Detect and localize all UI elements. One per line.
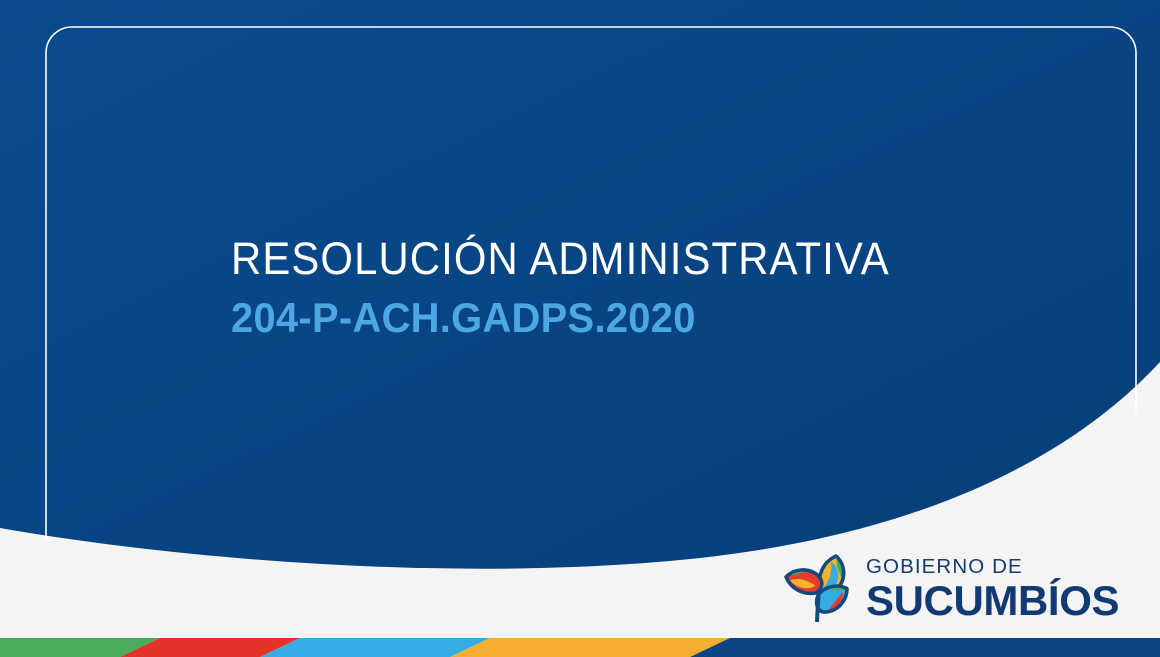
gobierno-sucumbios-logo: GOBIERNO DE SUCUMBÍOS [779,549,1119,629]
page-title: RESOLUCIÓN ADMINISTRATIVA [231,231,938,287]
three-leaf-emblem-icon [779,549,853,629]
page-subtitle: 204-P-ACH.GADPS.2020 [231,292,953,344]
bottom-color-bar [0,638,1160,657]
logo-line-gobierno: GOBIERNO DE [866,556,1119,578]
color-bar-segment-cyan [260,638,490,657]
color-bar-segment-navy [690,638,1160,657]
color-bar-segment-orange [450,638,730,657]
title-block: RESOLUCIÓN ADMINISTRATIVA 204-P-ACH.GADP… [231,231,991,344]
logo-line-sucumbios: SUCUMBÍOS [866,579,1119,622]
logo-wordmark: GOBIERNO DE SUCUMBÍOS [866,556,1119,622]
slide-canvas: RESOLUCIÓN ADMINISTRATIVA 204-P-ACH.GADP… [0,0,1160,657]
